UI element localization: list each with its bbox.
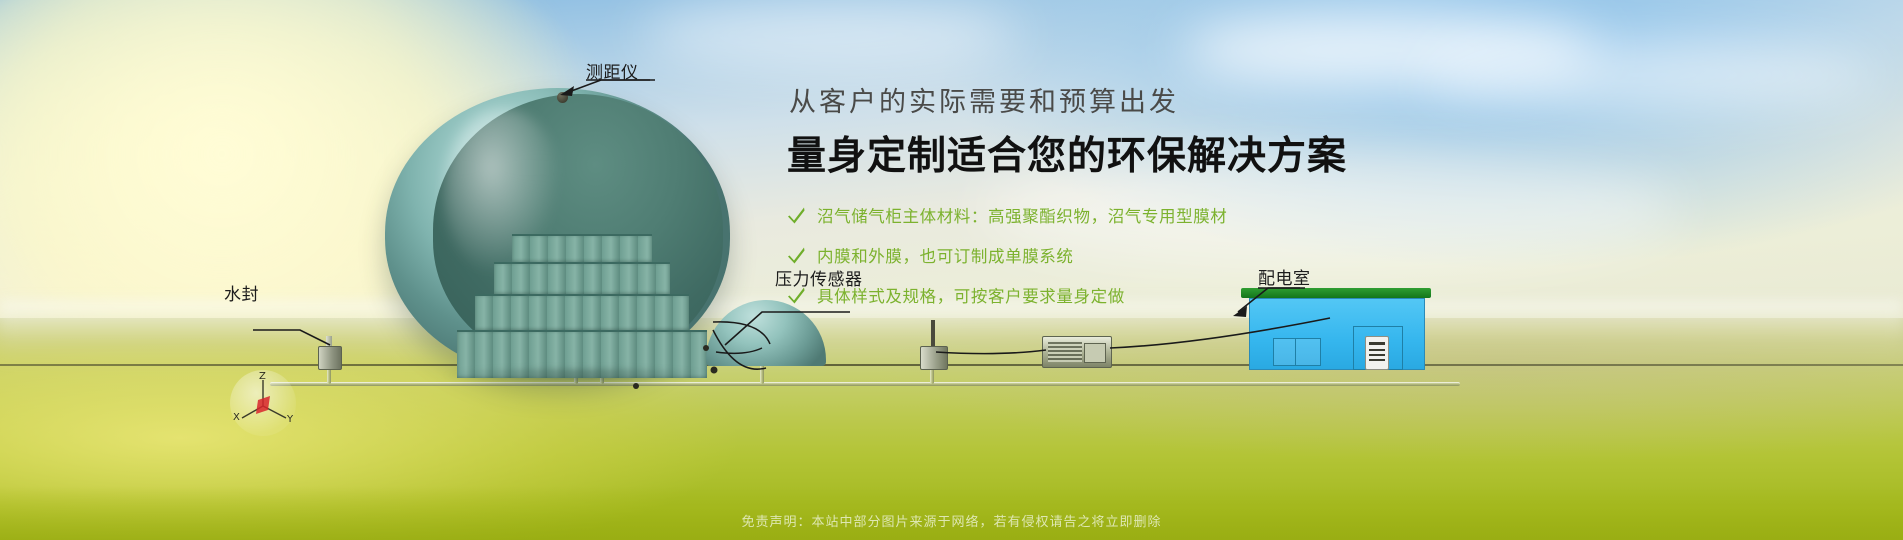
rangefinder-sensor-icon [557,92,568,103]
machine-vent-icon [1084,343,1106,363]
label-rangefinder: 测距仪 [586,58,639,83]
membrane-tier [512,234,652,262]
main-pipeline [270,382,1460,386]
machine-grill-icon [1048,342,1082,362]
list-item: 具体样式及规格，可按客户要求量身定做 [787,283,1487,307]
control-panel-icon [1365,336,1389,370]
svg-text:Y: Y [286,414,294,425]
check-icon [787,246,806,265]
membrane-tiers [457,234,707,378]
cloud [1420,40,1880,110]
check-icon [787,286,806,305]
blower-machine [1042,336,1112,368]
cloud [640,0,1020,70]
axis-gizmo: Z X Y [230,370,296,436]
membrane-tier [475,294,689,330]
kicker-text: 从客户的实际需要和预算出发 [789,80,1487,119]
list-item: 沼气储气柜主体材料：高强聚酯织物，沼气专用型膜材 [787,203,1487,227]
list-item-label: 沼气储气柜主体材料：高强聚酯织物，沼气专用型膜材 [817,203,1227,227]
disclaimer-text: 免责声明：本站中部分图片来源于网络，若有侵权请告之将立即删除 [0,511,1903,530]
water-seal-unit [318,336,340,368]
water-seal-body [318,346,342,370]
feature-list: 沼气储气柜主体材料：高强聚酯织物，沼气专用型膜材 内膜和外膜，也可订制成单膜系统… [787,203,1487,307]
label-water-seal: 水封 [224,280,259,305]
list-item: 内膜和外膜，也可订制成单膜系统 [787,243,1487,267]
membrane-tier [494,262,670,294]
pressure-sensor-unit [920,320,946,368]
marketing-copy: 从客户的实际需要和预算出发 量身定制适合您的环保解决方案 沼气储气柜主体材料：高… [787,80,1487,323]
list-item-label: 具体样式及规格，可按客户要求量身定做 [817,283,1125,307]
banner-stage: Z X Y 测距仪 水封 压力传感器 配电室 从客户的实际需要和预算出发 量身定… [0,0,1903,540]
sensor-box [920,346,948,370]
ground-line [0,364,1903,366]
svg-text:Z: Z [259,371,266,382]
building-window [1273,338,1321,366]
svg-text:X: X [233,412,240,423]
gas-holder-dome [385,88,730,378]
headline-text: 量身定制适合您的环保解决方案 [787,125,1487,181]
list-item-label: 内膜和外膜，也可订制成单膜系统 [817,243,1074,267]
check-icon [787,206,806,225]
dome-shadow [443,368,713,384]
